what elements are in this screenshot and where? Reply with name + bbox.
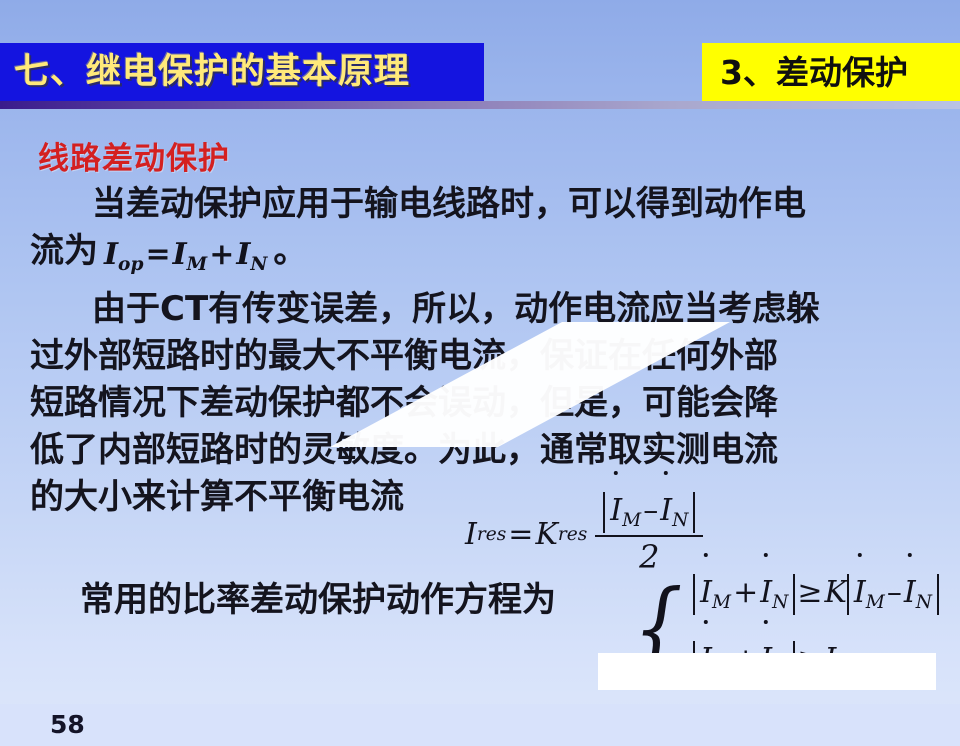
overdot-icon — [764, 620, 768, 624]
paragraph1-line2-prefix: 流为 — [30, 231, 98, 271]
slide-canvas: 七、继电保护的基本原理 3、差动保护 线路差动保护 当差动保护应用于输电线路时，… — [0, 0, 960, 746]
formula-restraint-current: Ires=Kres IM–IN 2 — [465, 492, 703, 576]
overdot-icon — [704, 620, 708, 624]
paragraph2-line5: 的大小来计算不平衡电流 — [30, 477, 404, 517]
white-rectangle-artifact — [598, 653, 936, 690]
overdot-icon — [614, 471, 618, 475]
criterion-row-1: IM+IN≥KIM–IN — [693, 570, 939, 619]
overdot-icon — [664, 471, 668, 475]
header-left-banner: 七、继电保护的基本原理 — [0, 43, 484, 101]
overdot-icon — [858, 553, 862, 557]
overdot-icon — [764, 553, 768, 557]
absolute-value-bars: IM–IN — [603, 492, 695, 533]
header-right-banner: 3、差动保护 — [702, 43, 960, 101]
section-subtitle: 线路差动保护 — [38, 133, 230, 178]
overdot-icon — [704, 553, 708, 557]
absolute-value-bars: IM+IN — [693, 574, 795, 615]
paragraph-operating-current: 当差动保护应用于输电线路时，可以得到动作电 流为Iop=IM+IN。 — [30, 181, 930, 288]
page-number: 58 — [50, 710, 85, 739]
header-divider-bar — [0, 101, 960, 109]
formula-operating-current: Iop=IM+IN — [98, 231, 273, 288]
paragraph1-line2-suffix: 。 — [273, 231, 307, 271]
overdot-icon — [241, 208, 245, 212]
absolute-value-bars: IM–IN — [847, 574, 939, 615]
overdot-icon — [177, 208, 181, 212]
criterion-lead-text: 常用的比率差动保护动作方程为 — [80, 572, 556, 621]
paragraph1-lead-text: 当差动保护应用于输电线路时，可以得到动作电 — [92, 184, 806, 224]
header-left-banner-text: 七、继电保护的基本原理 — [14, 55, 410, 90]
footer-strip — [0, 704, 960, 746]
fraction: IM–IN 2 — [595, 492, 703, 576]
fraction-numerator: IM–IN — [595, 492, 703, 535]
overdot-icon — [908, 553, 912, 557]
overdot-icon — [109, 208, 113, 212]
header-right-banner-text: 3、差动保护 — [720, 56, 908, 89]
